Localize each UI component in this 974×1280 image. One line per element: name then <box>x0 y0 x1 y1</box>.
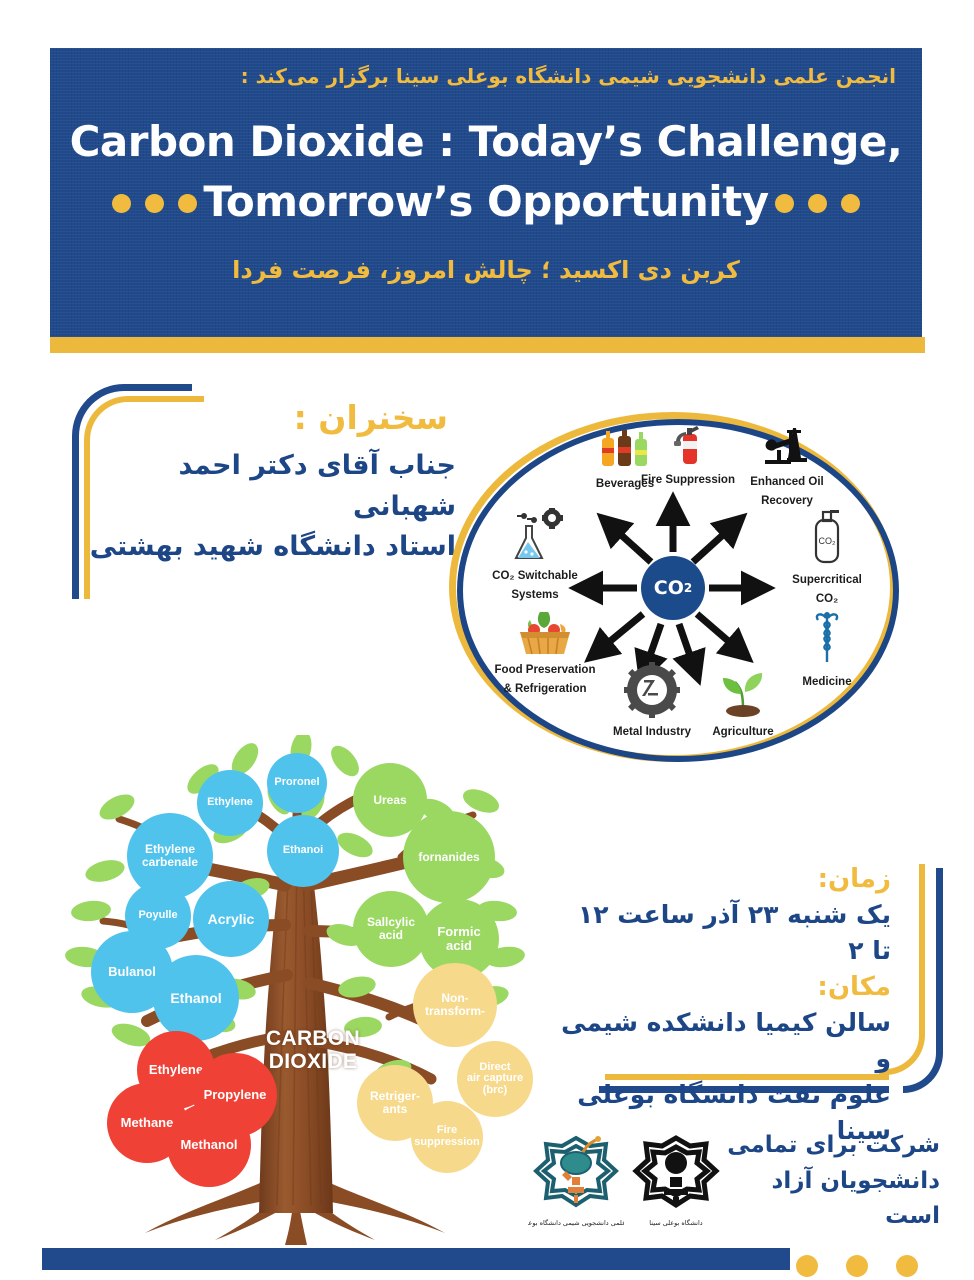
event-details-block: زمان: یک شنبه ۲۳ آذر ساعت ۱۲ تا ۲ مکان: … <box>555 862 955 1132</box>
details-bracket <box>903 868 943 1093</box>
dot-icon <box>145 194 164 213</box>
speaker-affiliation: استاد دانشگاه شهید بهشتی <box>76 527 456 568</box>
dot-icon <box>896 1255 918 1277</box>
tree-bubble: Direct air capture (brc) <box>457 1041 533 1117</box>
gear-beam-icon <box>624 662 680 718</box>
dot-icon <box>112 194 131 213</box>
tree-bubble: Sallcylic acid <box>353 891 429 967</box>
node-metal-industry: Metal Industry <box>597 662 707 739</box>
place-value-line-1: سالن کیمیا دانشکده شیمی و <box>561 1005 891 1078</box>
university-logo: دانشگاه بوعلی سینا <box>628 1133 724 1231</box>
co2-applications-diagram: CO2 Beverages Fire Supp <box>447 412 907 764</box>
university-logo-caption: دانشگاه بوعلی سینا <box>649 1219 702 1227</box>
node-co2-switchable-systems: CO₂ Switchable Systems <box>477 508 593 602</box>
speaker-block: سخنران : جناب آقای دکتر احمد شهبانی استا… <box>72 384 462 614</box>
chemistry-association-logo-caption: انجمن علمی دانشجویی شیمی دانشگاه بوعلی س… <box>528 1219 624 1227</box>
node-agriculture-label: Agriculture <box>712 726 773 738</box>
node-enhanced-oil-recovery-label: Enhanced Oil Recovery <box>750 476 824 507</box>
seedling-icon <box>717 668 769 718</box>
tree-center-label: CARBON DIOXIDE <box>253 1027 373 1073</box>
co2-center-subscript: 2 <box>684 581 692 595</box>
node-agriculture: Agriculture <box>695 668 791 739</box>
tree-bubble: Ethylene <box>197 770 263 836</box>
fire-extinguisher-icon <box>673 424 703 466</box>
node-fire-suppression: Fire Suppression <box>629 424 747 487</box>
time-label: زمان: <box>561 862 891 897</box>
tree-bubble: Proronel <box>267 753 327 813</box>
dot-icon <box>796 1255 818 1277</box>
banner-kicker: انجمن علمی دانشجویی شیمی دانشگاه بوعلی س… <box>241 64 896 88</box>
poster-root: انجمن علمی دانشجویی شیمی دانشگاه بوعلی س… <box>0 0 974 1280</box>
node-supercritical-co2-label: Supercritical CO₂ <box>792 574 862 605</box>
caduceus-icon <box>812 610 842 668</box>
banner-accent-stripe <box>50 337 925 353</box>
time-value: یک شنبه ۲۳ آذر ساعت ۱۲ تا ۲ <box>561 897 891 970</box>
place-label: مکان: <box>561 970 891 1005</box>
node-co2-switchable-systems-label: CO₂ Switchable Systems <box>492 570 578 601</box>
node-food-preservation-label: Food Preservation & Refrigeration <box>495 664 596 695</box>
oil-pumpjack-icon <box>763 426 811 468</box>
dot-icon <box>178 194 197 213</box>
tree-bubble: Fire suppression <box>411 1101 483 1173</box>
tree-bubble: fornanides <box>403 811 495 903</box>
footer-dots <box>796 1255 918 1277</box>
node-food-preservation: Food Preservation & Refrigeration <box>483 608 607 696</box>
header-banner: انجمن علمی دانشجویی شیمی دانشگاه بوعلی س… <box>50 48 922 337</box>
dot-icon <box>775 194 794 213</box>
food-basket-icon <box>514 608 576 656</box>
speaker-label: سخنران : <box>294 398 448 437</box>
co2-center-node: CO2 <box>641 556 705 620</box>
footer-bar <box>42 1248 790 1270</box>
node-medicine-label: Medicine <box>802 676 851 688</box>
gas-cylinder-icon: CO₂ <box>810 508 844 566</box>
title-dots-right <box>775 194 860 213</box>
event-details-text: زمان: یک شنبه ۲۳ آذر ساعت ۱۲ تا ۲ مکان: … <box>561 862 891 1150</box>
tree-bubble: Methanol <box>167 1103 251 1187</box>
node-supercritical-co2: CO₂ Supercritical CO₂ <box>777 508 877 606</box>
node-enhanced-oil-recovery: Enhanced Oil Recovery <box>735 426 839 508</box>
chemistry-association-logo: انجمن علمی دانشجویی شیمی دانشگاه بوعلی س… <box>528 1133 624 1231</box>
poster-title-line-1: Carbon Dioxide : Today’s Challenge, <box>50 120 922 164</box>
tree-bubble: Ethanol <box>153 955 239 1041</box>
dot-icon <box>808 194 827 213</box>
tree-bubble: Non- transform- <box>413 963 497 1047</box>
title-dots-left <box>112 194 197 213</box>
co2-utilization-tree: CARBON DIOXIDE ProronelEthyleneEthylene … <box>45 735 545 1260</box>
speaker-name: جناب آقای دکتر احمد شهبانی استاد دانشگاه… <box>76 446 456 568</box>
tree-bubble: Acrylic <box>193 881 269 957</box>
flask-gear-icon <box>504 508 566 562</box>
svg-text:CO₂: CO₂ <box>819 536 837 546</box>
organization-logos: انجمن علمی دانشجویی شیمی دانشگاه بوعلی س… <box>528 1133 728 1248</box>
co2-center-label: CO <box>654 577 684 599</box>
dot-icon <box>846 1255 868 1277</box>
node-medicine: Medicine <box>779 610 875 689</box>
tree-bubble: Ethanoi <box>267 815 339 887</box>
node-fire-suppression-label: Fire Suppression <box>641 474 735 486</box>
speaker-name-line-1: جناب آقای دکتر احمد شهبانی <box>76 446 456 527</box>
poster-subtitle-farsi: کربن دی اکسید ؛ چالش امروز، فرصت فردا <box>50 256 922 284</box>
dot-icon <box>841 194 860 213</box>
node-metal-industry-label: Metal Industry <box>613 726 691 738</box>
